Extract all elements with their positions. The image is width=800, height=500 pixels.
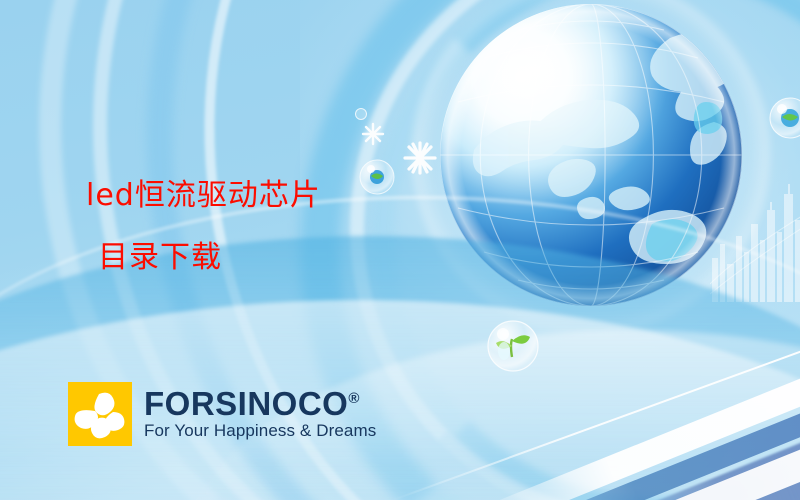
page-title: led恒流驱动芯片 目录下载 bbox=[86, 165, 321, 289]
bubble-tiny-icon bbox=[354, 107, 368, 121]
headline-line-2: 目录下载 bbox=[86, 227, 321, 289]
promo-banner: led恒流驱动芯片 目录下载 FORSINOCO® For Your Happi… bbox=[0, 0, 800, 500]
logo-mark bbox=[68, 382, 132, 446]
logo-text-block: FORSINOCO® For Your Happiness & Dreams bbox=[144, 387, 376, 442]
bubble-plant-icon bbox=[484, 317, 542, 375]
sparkle-large-icon bbox=[403, 141, 437, 175]
registered-trademark-icon: ® bbox=[348, 390, 359, 407]
headline-line-1: led恒流驱动芯片 bbox=[86, 165, 321, 227]
logo-wordmark-text: FORSINOCO bbox=[144, 385, 348, 422]
earth-globe bbox=[438, 2, 744, 308]
logo-wordmark: FORSINOCO® bbox=[144, 387, 376, 421]
company-logo[interactable]: FORSINOCO® For Your Happiness & Dreams bbox=[68, 382, 376, 446]
sparkle-small-icon bbox=[361, 122, 385, 146]
bubble-globe-small-icon bbox=[356, 156, 398, 198]
logo-tagline: For Your Happiness & Dreams bbox=[144, 421, 376, 441]
four-petal-pinwheel-icon bbox=[68, 382, 132, 446]
